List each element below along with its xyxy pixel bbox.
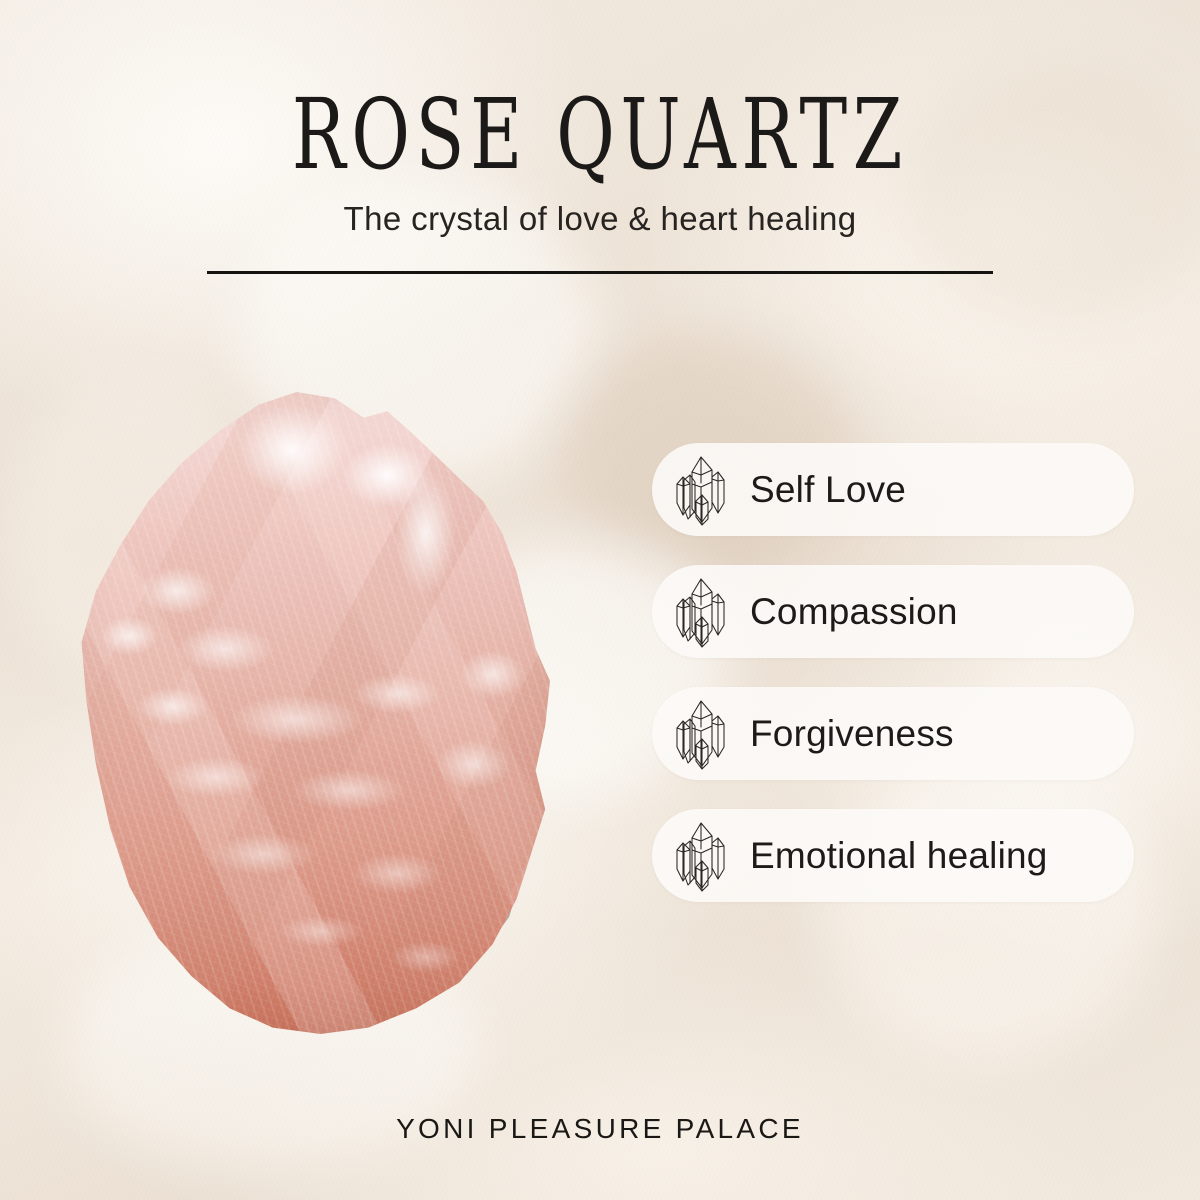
feature-pill-compassion[interactable]: Compassion xyxy=(652,565,1134,658)
page-subtitle: The crystal of love & heart healing xyxy=(0,200,1200,238)
crystal-cluster-icon xyxy=(674,819,728,893)
hero-crystal-image xyxy=(72,392,550,1034)
feature-pill-forgiveness[interactable]: Forgiveness xyxy=(652,687,1134,780)
header-divider xyxy=(207,271,993,274)
page-title: ROSE QUARTZ xyxy=(36,86,1164,183)
feature-list: Self Love xyxy=(652,443,1134,931)
feature-label: Self Love xyxy=(750,469,906,511)
crystal-cluster-icon xyxy=(674,575,728,649)
feature-label: Compassion xyxy=(750,591,958,633)
brand-footer: YONI PLEASURE PALACE xyxy=(0,1113,1200,1145)
feature-pill-self-love[interactable]: Self Love xyxy=(652,443,1134,536)
feature-label: Forgiveness xyxy=(750,713,954,755)
feature-pill-emotional-healing[interactable]: Emotional healing xyxy=(652,809,1134,902)
header-block: ROSE QUARTZ The crystal of love & heart … xyxy=(0,0,1200,274)
crystal-cluster-icon xyxy=(674,453,728,527)
feature-label: Emotional healing xyxy=(750,835,1048,877)
poster-canvas: ROSE QUARTZ The crystal of love & heart … xyxy=(0,0,1200,1200)
rose-quartz-crystal xyxy=(72,392,550,1034)
crystal-cluster-icon xyxy=(674,697,728,771)
crystal-texture-overlay xyxy=(72,392,550,1034)
